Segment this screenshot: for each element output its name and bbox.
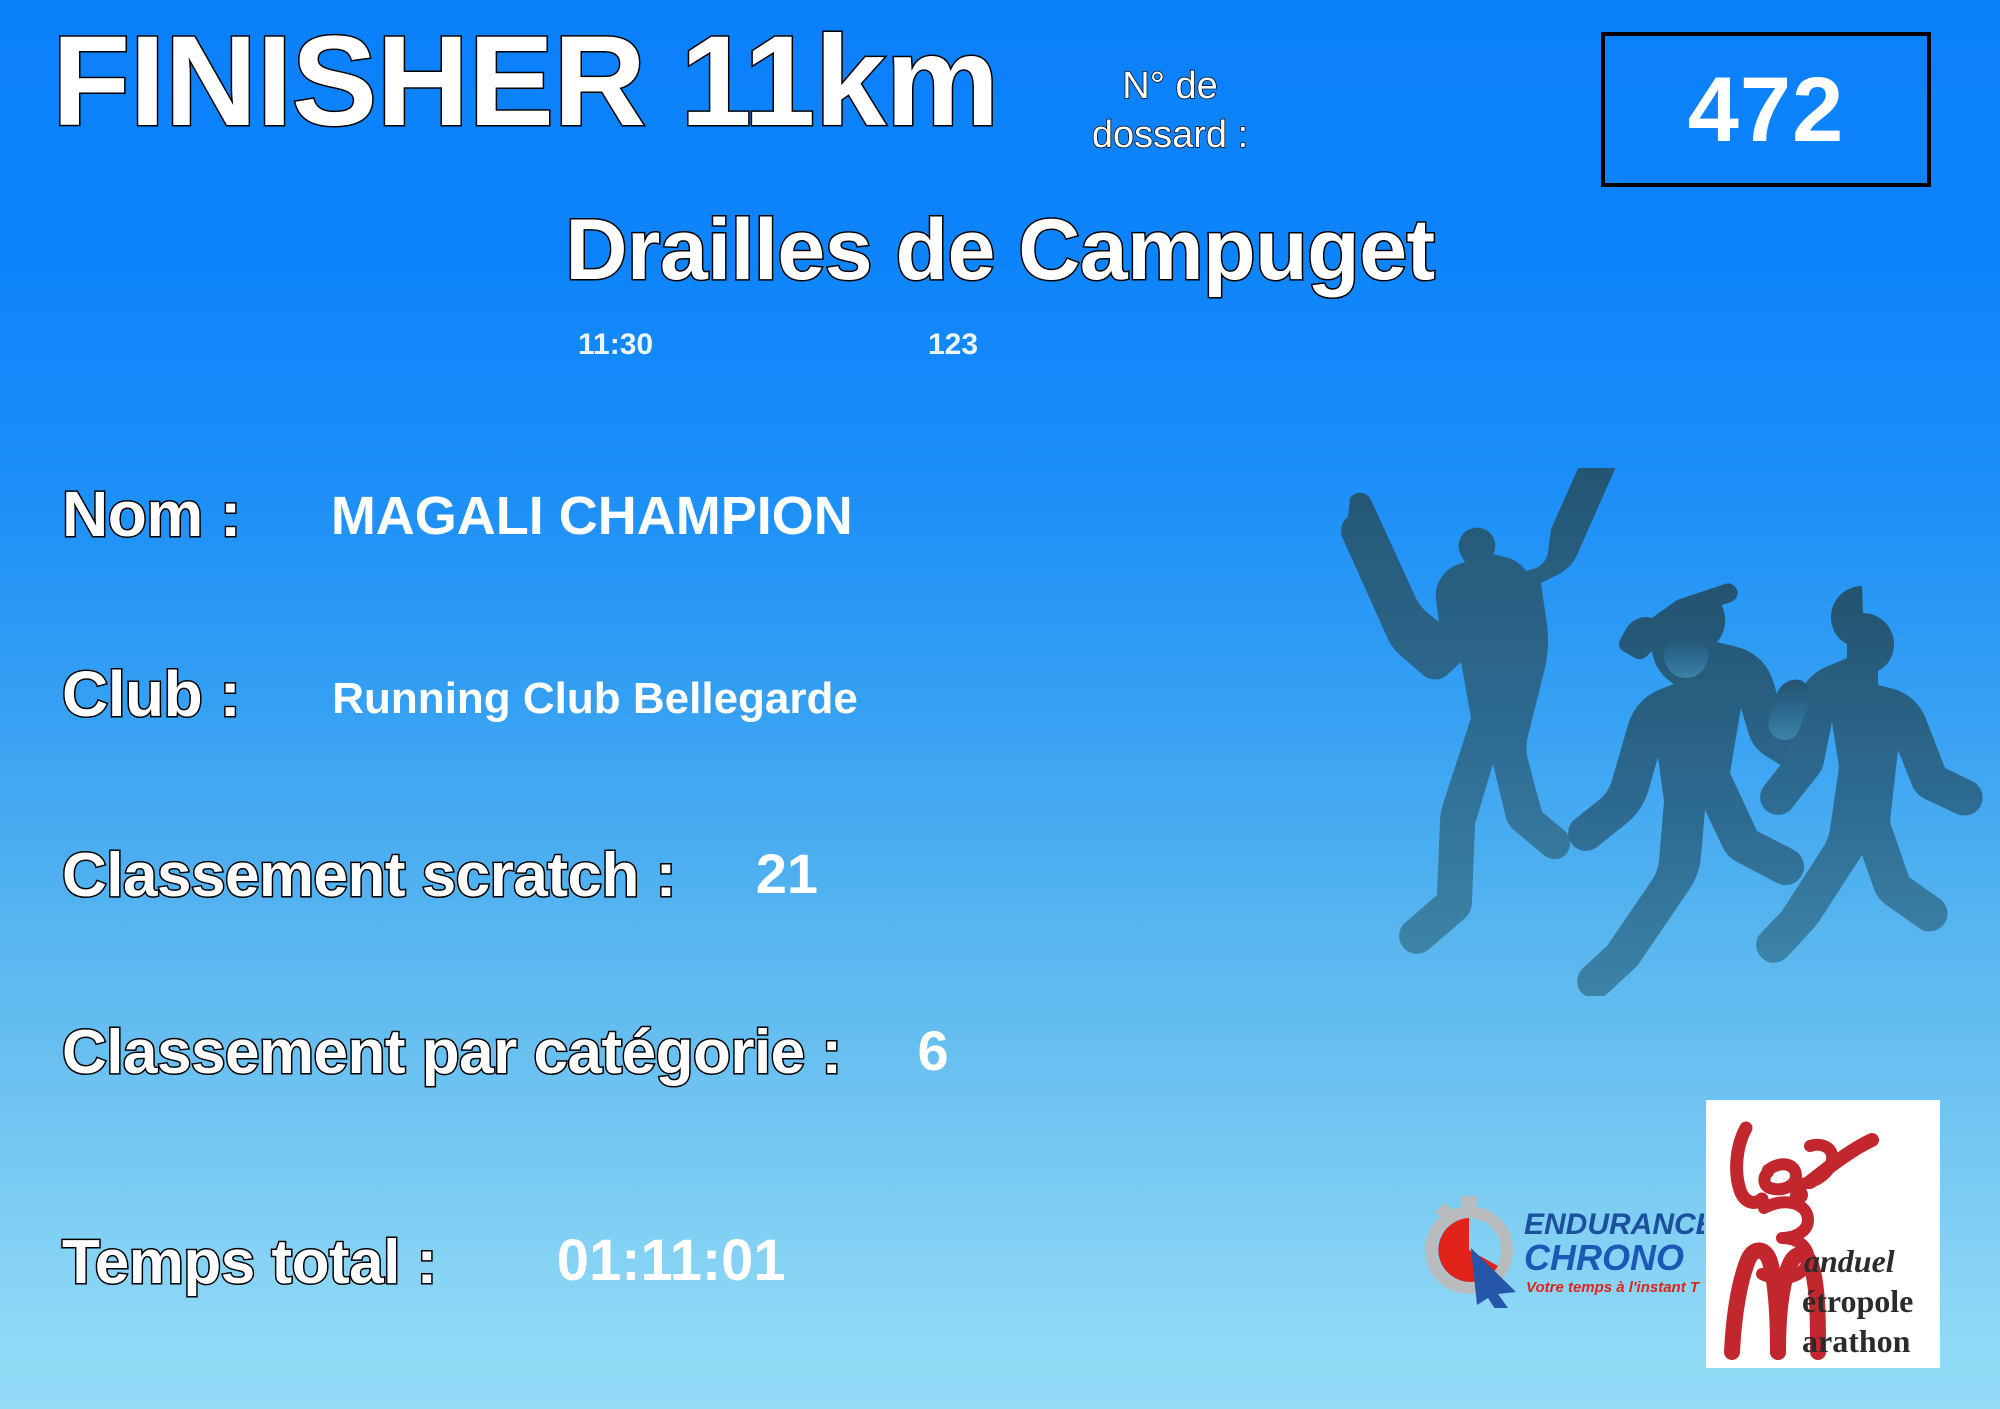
runners-silhouette-illustration [1322, 468, 2000, 996]
les3m-word-manduel: anduel [1804, 1243, 1895, 1279]
club-value: Running Club Bellegarde [332, 677, 858, 721]
watermark-count: 123 [928, 330, 978, 360]
bib-number-label: N° de dossard : [1080, 62, 1260, 159]
les3m-word-marathon: arathon [1802, 1323, 1911, 1359]
category-ranking-label: Classement par catégorie : [62, 1022, 842, 1084]
race-name: Drailles de Campuget [0, 207, 2000, 293]
row-scratch-ranking: Classement scratch : 21 [62, 845, 818, 907]
name-label: Nom : [62, 482, 241, 546]
les-3m-marathon-logo: anduel étropole arathon [1706, 1100, 1940, 1368]
les3m-word-metropole: étropole [1802, 1283, 1913, 1319]
category-ranking-value: 6 [918, 1023, 949, 1079]
endurance-tagline: Votre temps à l'instant T [1526, 1279, 1701, 1296]
bib-label-line2: dossard : [1080, 111, 1260, 160]
bib-number-value: 472 [1688, 64, 1845, 156]
name-value: MAGALI CHAMPION [331, 489, 853, 543]
row-name: Nom : MAGALI CHAMPION [62, 482, 853, 546]
club-label: Club : [62, 662, 240, 726]
page-title: FINISHER 11km [52, 18, 999, 146]
scratch-ranking-label: Classement scratch : [62, 845, 676, 907]
watermark-time: 11:30 [578, 330, 653, 360]
row-club: Club : Running Club Bellegarde [62, 662, 858, 726]
bib-number-box: 472 [1601, 32, 1931, 187]
endurance-chrono-logo: ENDURANCE CHRONO Votre temps à l'instant… [1424, 1188, 1704, 1308]
total-time-label: Temps total : [62, 1232, 437, 1294]
finisher-certificate: FINISHER 11km N° de dossard : 472 Draill… [0, 0, 2000, 1409]
scratch-ranking-value: 21 [756, 846, 818, 902]
race-name-text: Drailles de Campuget [565, 207, 1434, 293]
endurance-word-2: CHRONO [1524, 1237, 1684, 1278]
total-time-value: 01:11:01 [557, 1232, 786, 1290]
row-category-ranking: Classement par catégorie : 6 [62, 1022, 949, 1084]
bib-label-line1: N° de [1122, 65, 1217, 107]
row-total-time: Temps total : 01:11:01 [62, 1232, 786, 1294]
